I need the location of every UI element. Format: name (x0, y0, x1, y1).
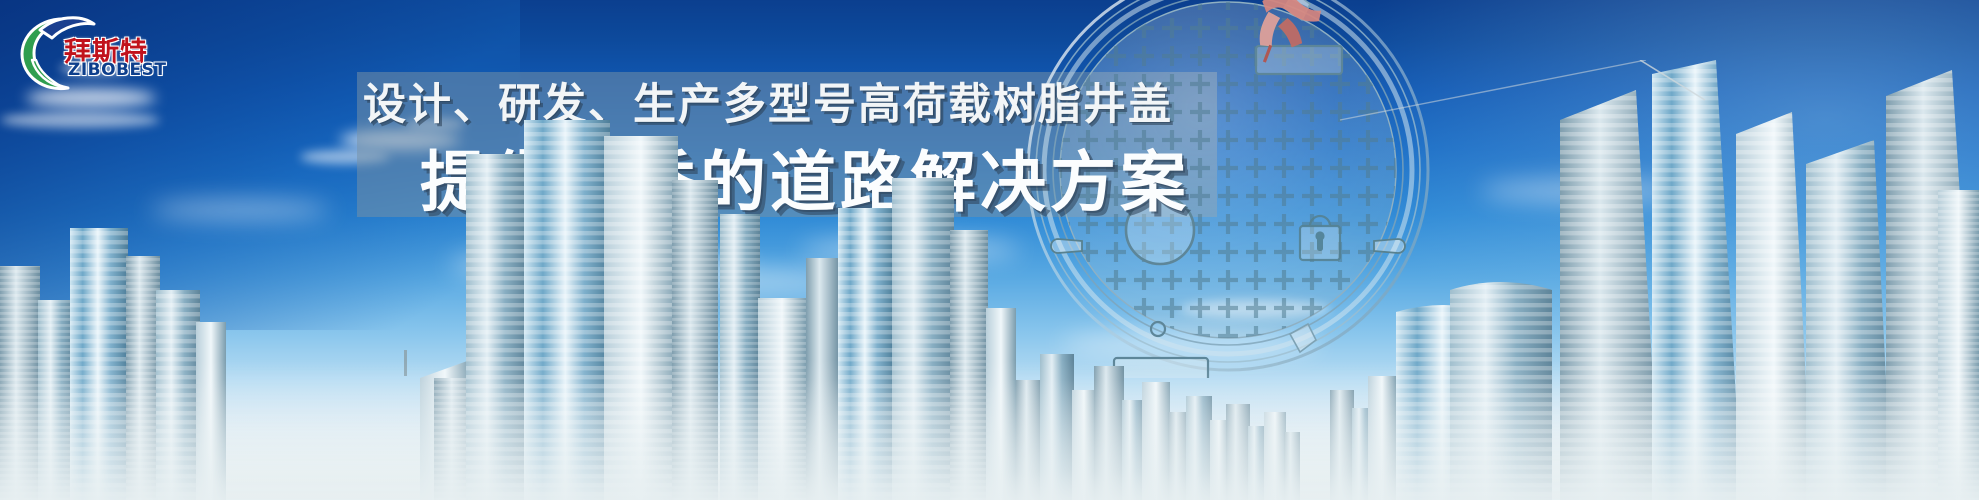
promotional-banner: 设计、研发、生产多型号高荷载树脂井盖 提供优秀的道路解决方案 (0, 0, 1979, 500)
logo-name-en: ZIBOBEST (68, 60, 166, 80)
company-logo[interactable]: 拜斯特 ZIBOBEST (12, 8, 172, 94)
city-skyline-icon (0, 60, 1979, 500)
